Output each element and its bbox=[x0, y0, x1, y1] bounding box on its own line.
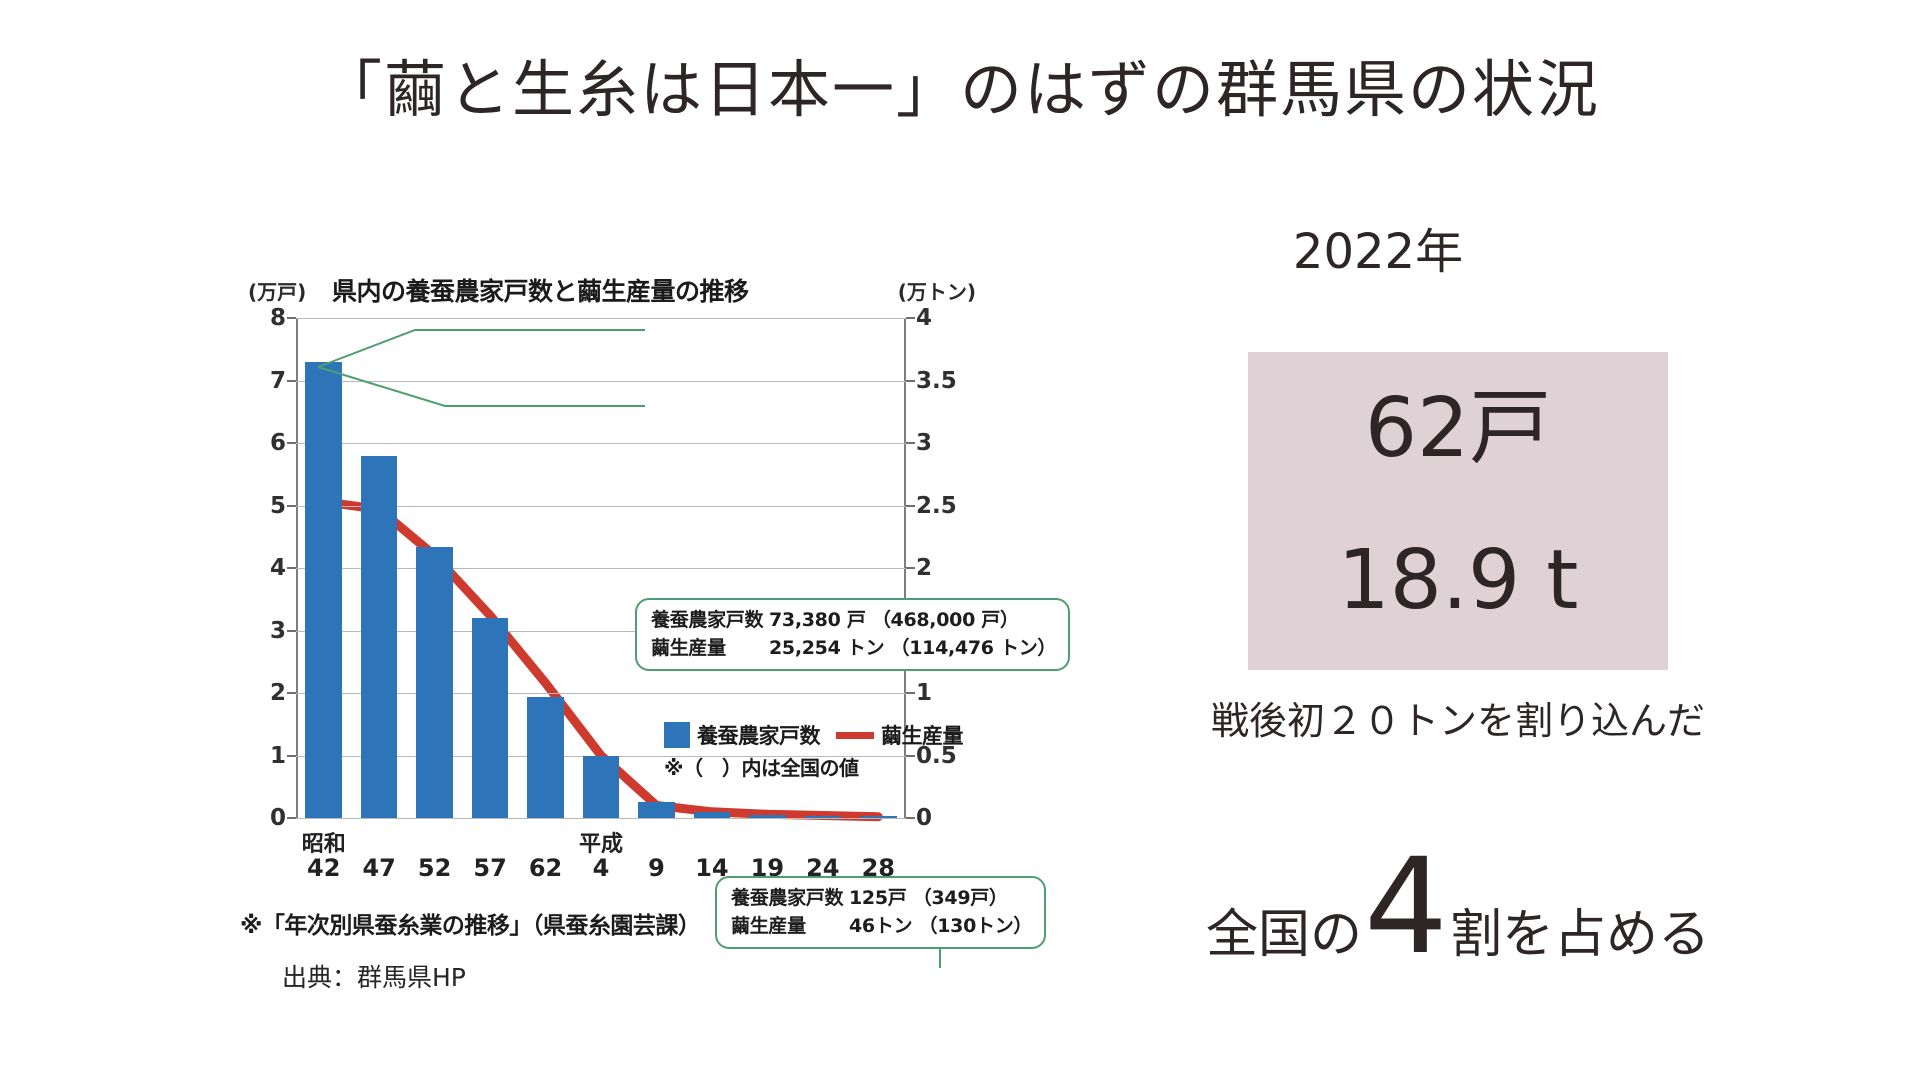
callout-bottom-value-1: 125戸 （349戸） bbox=[849, 887, 1008, 909]
bottom-number: 4 bbox=[1364, 848, 1448, 967]
callout-top-value-1: 73,380 戸 （468,000 戸） bbox=[769, 609, 1019, 631]
slide-root: 「繭と生糸は日本一」のはずの群馬県の状況 (万戸) 県内の養蚕農家戸数と繭生産量… bbox=[0, 0, 1920, 1080]
bottom-line: 全国の 4 割を占める bbox=[1088, 848, 1828, 967]
callout-bottom-row-1: 養蚕農家戸数125戸 （349戸） bbox=[731, 884, 1032, 912]
callout-top-value-2: 25,254 トン （114,476 トン） bbox=[769, 637, 1056, 659]
bottom-prefix: 全国の bbox=[1206, 892, 1362, 967]
sub-note: 戦後初２０トンを割り込んだ bbox=[1128, 690, 1788, 745]
callout-top-row-1: 養蚕農家戸数73,380 戸 （468,000 戸） bbox=[651, 606, 1056, 634]
page-title: 「繭と生糸は日本一」のはずの群馬県の状況 bbox=[0, 54, 1920, 125]
callout-top-row-2: 繭生産量25,254 トン （114,476 トン） bbox=[651, 634, 1056, 662]
source-label: 出典：群馬県HP bbox=[282, 958, 466, 994]
callout-top-label-2: 繭生産量 bbox=[651, 634, 769, 662]
callout-bottom-row-2: 繭生産量46トン （130トン） bbox=[731, 912, 1032, 940]
year-label: 2022年 bbox=[1118, 212, 1638, 282]
chart-footnote: ※「年次別県蚕糸業の推移」（県蚕糸園芸課） bbox=[240, 906, 700, 940]
chart-card: (万戸) 県内の養蚕農家戸数と繭生産量の推移 (万トン) 0010.52131.… bbox=[240, 268, 980, 888]
callout-top-label-1: 養蚕農家戸数 bbox=[651, 606, 769, 634]
callout-bottom-label-2: 繭生産量 bbox=[731, 912, 849, 940]
value-households: 62戸 bbox=[1248, 388, 1668, 470]
callout-top: 養蚕農家戸数73,380 戸 （468,000 戸） 繭生産量25,254 トン… bbox=[635, 598, 1070, 671]
callout-bottom-label-1: 養蚕農家戸数 bbox=[731, 884, 849, 912]
chart-clipping: (万戸) 県内の養蚕農家戸数と繭生産量の推移 (万トン) 0010.52131.… bbox=[240, 268, 980, 968]
bottom-suffix: 割を占める bbox=[1450, 892, 1710, 967]
value-tons: 18.9 t bbox=[1248, 540, 1668, 622]
callout-bottom: 養蚕農家戸数125戸 （349戸） 繭生産量46トン （130トン） bbox=[715, 876, 1046, 949]
callout-bottom-leader bbox=[240, 268, 980, 888]
callout-bottom-value-2: 46トン （130トン） bbox=[849, 915, 1032, 937]
